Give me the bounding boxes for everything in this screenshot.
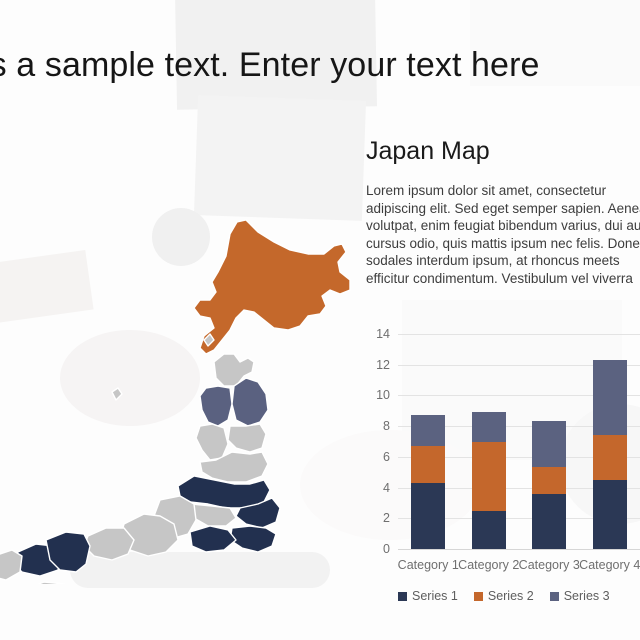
bar-2[interactable] [472, 334, 506, 549]
y-axis-labels: 02468101214 [364, 334, 394, 549]
legend-label: Series 3 [564, 589, 610, 603]
x-tick-label: Category 4 [579, 558, 640, 572]
bar-4[interactable] [593, 334, 627, 549]
bar-3[interactable] [532, 334, 566, 549]
bar-segment-series-3[interactable] [593, 360, 627, 435]
map-region-yamagata [196, 424, 228, 460]
section-heading: Japan Map [366, 136, 640, 166]
bar-segment-series-2[interactable] [532, 467, 566, 495]
bar-segment-series-2[interactable] [593, 435, 627, 480]
y-tick-label: 2 [383, 511, 390, 525]
japan-map-svg [0, 104, 378, 584]
legend-label: Series 1 [412, 589, 458, 603]
map-region-islet-1 [112, 388, 122, 400]
map-region-kinki [84, 528, 134, 560]
gridline [398, 549, 640, 550]
map-region-chiba [230, 526, 276, 552]
page-title: is a sample text. Enter your text here [0, 34, 540, 96]
bar-segment-series-3[interactable] [472, 412, 506, 442]
x-tick-label: Category 1 [398, 558, 459, 572]
bar-segment-series-1[interactable] [472, 511, 506, 549]
bar-segment-series-1[interactable] [532, 494, 566, 549]
y-tick-label: 14 [376, 327, 390, 341]
y-tick-label: 6 [383, 450, 390, 464]
y-tick-label: 0 [383, 542, 390, 556]
map-region-shikoku [18, 582, 74, 584]
chart-legend[interactable]: Series 1Series 2Series 3 [398, 588, 640, 604]
y-tick-label: 4 [383, 481, 390, 495]
legend-item-series-1[interactable]: Series 1 [398, 589, 458, 603]
bar-segment-series-3[interactable] [532, 421, 566, 467]
x-tick-label: Category 3 [519, 558, 580, 572]
bar-1[interactable] [411, 334, 445, 549]
map-region-miyagi [228, 424, 266, 452]
map-region-chubu-s [190, 526, 236, 552]
bar-segment-series-2[interactable] [472, 442, 506, 511]
legend-swatch [550, 592, 559, 601]
map-region-hokkaido [194, 220, 350, 354]
plot-area [398, 334, 640, 549]
legend-swatch [398, 592, 407, 601]
legend-swatch [474, 592, 483, 601]
legend-item-series-3[interactable]: Series 3 [550, 589, 610, 603]
y-tick-label: 10 [376, 388, 390, 402]
legend-item-series-2[interactable]: Series 2 [474, 589, 534, 603]
y-tick-label: 12 [376, 358, 390, 372]
japan-map[interactable] [0, 104, 378, 584]
bar-segment-series-1[interactable] [593, 480, 627, 549]
stacked-bar-chart[interactable]: 02468101214 Category 1Category 2Category… [364, 326, 640, 626]
legend-label: Series 2 [488, 589, 534, 603]
x-tick-label: Category 2 [458, 558, 519, 572]
x-axis-labels: Category 1Category 2Category 3Category 4 [398, 558, 640, 576]
y-tick-label: 8 [383, 419, 390, 433]
map-region-akita [200, 386, 232, 426]
bar-segment-series-2[interactable] [411, 446, 445, 483]
map-region-chugoku-gray [0, 550, 22, 580]
body-paragraph: Lorem ipsum dolor sit amet, consectetur … [366, 182, 640, 288]
map-region-gunma [192, 504, 236, 526]
bar-segment-series-1[interactable] [411, 483, 445, 549]
text-panel: Japan Map Lorem ipsum dolor sit amet, co… [366, 136, 640, 316]
bar-segment-series-3[interactable] [411, 415, 445, 446]
map-region-iwate [232, 378, 268, 426]
slide-title-bar: is a sample text. Enter your text here [0, 34, 640, 96]
